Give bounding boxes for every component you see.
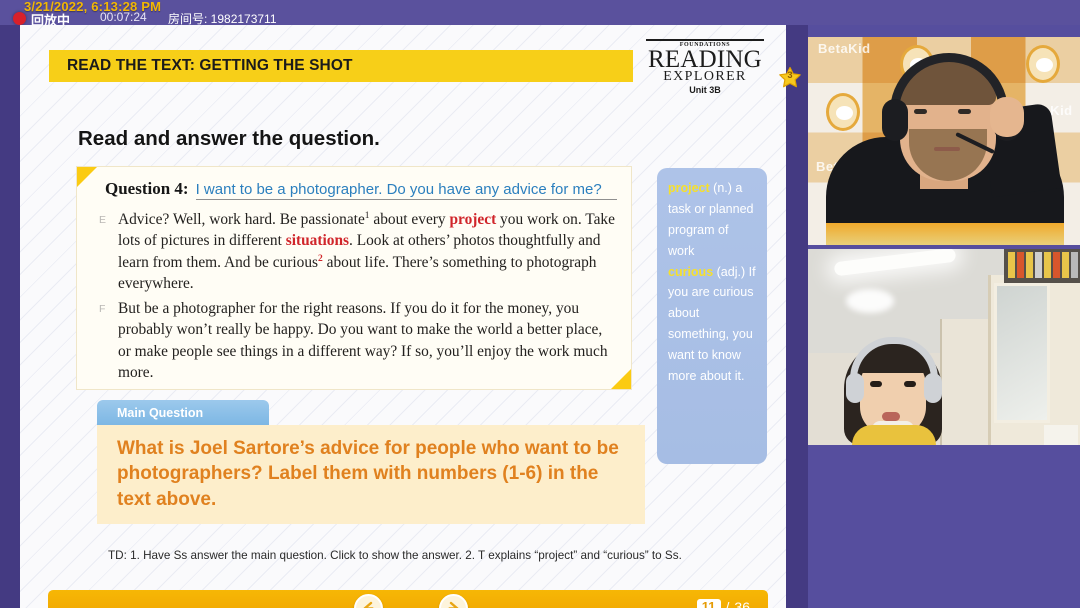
vocabulary-keyword: situations xyxy=(286,232,349,249)
book-icon xyxy=(1035,252,1042,278)
student-video[interactable] xyxy=(808,249,1080,445)
book-icon xyxy=(1017,252,1024,278)
paragraph-tag: E xyxy=(99,209,109,294)
book-icon xyxy=(1062,252,1069,278)
teacher-video[interactable]: BetaKid BetaKid BetaKid xyxy=(808,37,1080,245)
book-icon xyxy=(1026,252,1033,278)
betakid-watermark: BetaKid xyxy=(818,41,871,56)
corner-triangle-icon xyxy=(77,167,97,187)
lion-mascot-icon xyxy=(1026,45,1060,83)
elapsed-time: 00:07:24 xyxy=(100,10,147,24)
book-icon xyxy=(1008,252,1015,278)
book-icon xyxy=(1044,252,1051,278)
glossary-word: project xyxy=(668,181,710,195)
courseware-slide[interactable]: FOUNDATIONS READING EXPLORER Unit 3B REA… xyxy=(20,25,786,608)
slide-navigation-bar: 11 / 36 xyxy=(48,590,768,608)
cabinet-glass-door xyxy=(994,283,1050,423)
arrow-right-icon xyxy=(445,600,462,608)
book-icon xyxy=(1071,252,1078,278)
logo-unit: Unit 3B xyxy=(646,86,764,95)
next-slide-button[interactable] xyxy=(439,594,468,608)
classroom-app: 3/21/2022, 6:13:28 PM 回放中 00:07:24 房间号: … xyxy=(0,0,1080,608)
logo-divider xyxy=(646,39,764,41)
status-bar: 3/21/2022, 6:13:28 PM 回放中 00:07:24 房间号: … xyxy=(0,0,1080,25)
student-mouth xyxy=(882,412,900,421)
paragraph-body: Advice? Well, work hard. Be passionate1 … xyxy=(118,209,618,294)
teacher-mouth xyxy=(934,147,960,151)
previous-slide-button[interactable] xyxy=(354,594,383,608)
glossary-word: curious xyxy=(668,265,713,279)
glossary-entry: project (n.) a task or planned program o… xyxy=(668,178,758,262)
star-count: 3 xyxy=(778,70,802,80)
reading-explorer-logo: FOUNDATIONS READING EXPLORER Unit 3B xyxy=(646,42,764,95)
question-label: Question 4: xyxy=(105,179,189,199)
slide-instruction: Read and answer the question. xyxy=(78,127,380,151)
page-current: 11 xyxy=(697,599,721,608)
main-question-text: What is Joel Sartore’s advice for people… xyxy=(117,436,627,512)
teacher-direction-note: TD: 1. Have Ss answer the main question.… xyxy=(108,549,768,562)
recording-indicator-icon xyxy=(13,12,26,25)
vocabulary-keyword: project xyxy=(449,211,496,228)
headphone-cup-icon xyxy=(846,373,864,403)
slide-title: READ THE TEXT: GETTING THE SHOT xyxy=(67,57,353,75)
passage-text: Advice? Well, work hard. Be passionate xyxy=(118,211,365,228)
main-question-tab-label: Main Question xyxy=(117,406,203,420)
student-shirt xyxy=(852,425,936,445)
desk-paper xyxy=(1044,425,1078,445)
slide-title-banner: READ THE TEXT: GETTING THE SHOT xyxy=(49,50,633,82)
passage-text: about every xyxy=(370,211,450,228)
teacher-hand xyxy=(990,97,1024,137)
main-question-box: What is Joel Sartore’s advice for people… xyxy=(97,425,645,524)
ceiling-light-glare xyxy=(846,289,894,313)
page-counter: 11 / 36 xyxy=(697,599,750,608)
passage-text: But be a photographer for the right reas… xyxy=(118,300,608,381)
student-eye xyxy=(904,381,916,387)
glossary-panel: project (n.) a task or planned program o… xyxy=(657,168,767,464)
video-panel: BetaKid BetaKid BetaKid xyxy=(808,25,1080,608)
arrow-left-icon xyxy=(360,600,377,608)
book-shelf xyxy=(1004,249,1080,283)
headphone-cup-icon xyxy=(882,99,908,141)
paragraph-tag: F xyxy=(99,298,109,383)
lion-mascot-icon xyxy=(826,93,860,131)
star-reward-badge[interactable]: 3 xyxy=(778,66,802,90)
question-row: Question 4: I want to be a photographer.… xyxy=(105,179,617,200)
student-eye xyxy=(870,381,882,387)
teacher-hoodie-stripe xyxy=(826,223,1064,245)
page-total: 36 xyxy=(734,599,750,608)
book-icon xyxy=(1053,252,1060,278)
paragraph-f: F But be a photographer for the right re… xyxy=(99,298,618,383)
stage: FOUNDATIONS READING EXPLORER Unit 3B REA… xyxy=(0,25,1080,608)
question-answer: I want to be a photographer. Do you have… xyxy=(196,181,617,200)
paragraph-e: E Advice? Well, work hard. Be passionate… xyxy=(99,209,618,294)
student-cabinet xyxy=(940,319,988,445)
page-separator: / xyxy=(726,599,730,608)
logo-explorer: EXPLORER xyxy=(646,70,764,84)
glossary-definition: (adj.) If you are curious about somethin… xyxy=(668,265,756,383)
glossary-entry: curious (adj.) If you are curious about … xyxy=(668,262,758,387)
reading-passage-card: Question 4: I want to be a photographer.… xyxy=(76,166,632,390)
paragraph-body: But be a photographer for the right reas… xyxy=(118,298,618,383)
main-question-tab: Main Question xyxy=(97,400,269,425)
headphone-cup-icon xyxy=(924,373,942,403)
